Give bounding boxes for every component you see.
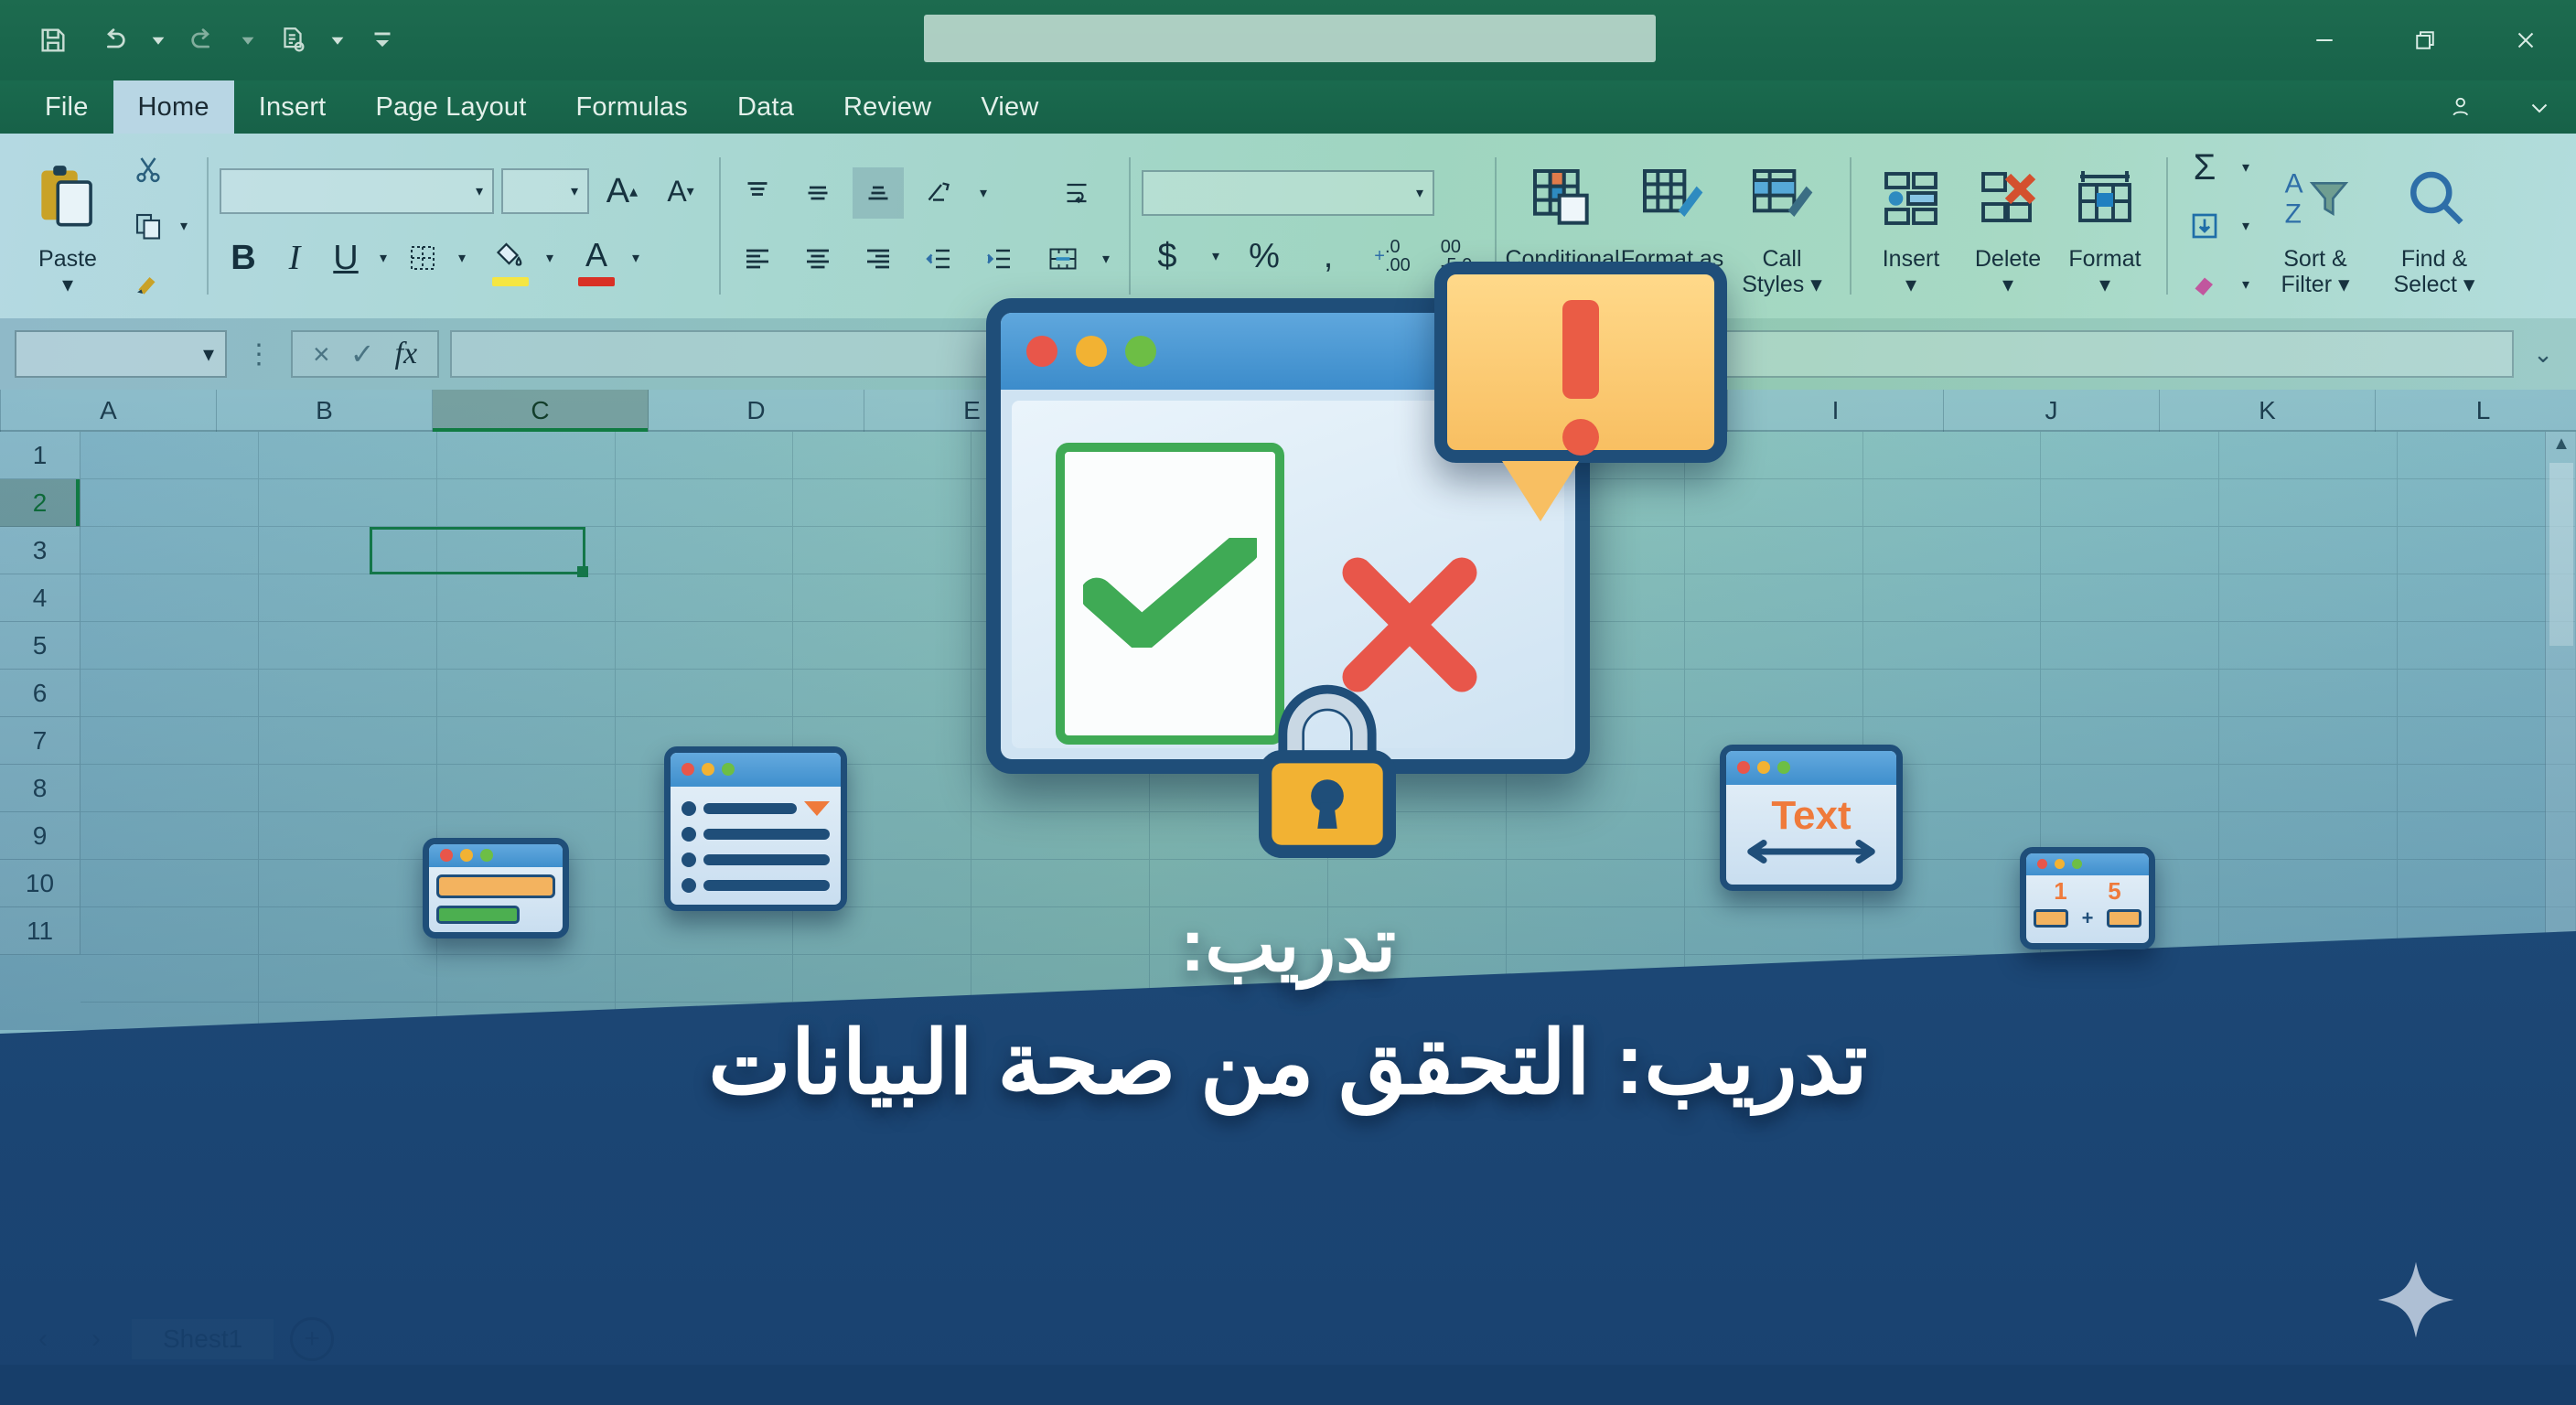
cell-M14[interactable] (2219, 1050, 2398, 1098)
cell-J10[interactable] (1685, 860, 1863, 907)
cell-H9[interactable] (1328, 812, 1507, 860)
cell-A8[interactable] (80, 765, 259, 812)
cell-F18[interactable] (971, 1240, 1150, 1288)
underline-button[interactable]: U (322, 239, 370, 278)
cell-G5[interactable] (1150, 622, 1328, 670)
column-header-C[interactable]: C (433, 390, 649, 432)
cell-D8[interactable] (616, 765, 794, 812)
cell-H5[interactable] (1328, 622, 1507, 670)
cell-B5[interactable] (259, 622, 437, 670)
cell-A18[interactable] (80, 1240, 259, 1288)
cell-L2[interactable] (2041, 479, 2219, 527)
cell-B13[interactable] (259, 1003, 437, 1050)
tab-review[interactable]: Review (819, 80, 956, 134)
cell-E15[interactable] (793, 1098, 971, 1145)
row-header-8[interactable]: 8 (0, 765, 80, 812)
cell-G11[interactable] (1150, 907, 1328, 955)
cell-A9[interactable] (80, 812, 259, 860)
cell-H8[interactable] (1328, 765, 1507, 812)
cell-K1[interactable] (1863, 432, 2042, 479)
cell-A15[interactable] (80, 1098, 259, 1145)
clear-dropdown-icon[interactable]: ▾ (2236, 274, 2256, 295)
cell-K11[interactable] (1863, 907, 2042, 955)
cell-C15[interactable] (437, 1098, 616, 1145)
cell-F14[interactable] (971, 1050, 1150, 1098)
orientation-dropdown-icon[interactable]: ▾ (973, 183, 993, 203)
cell-I10[interactable] (1507, 860, 1685, 907)
cell-D9[interactable] (616, 812, 794, 860)
cell-B8[interactable] (259, 765, 437, 812)
row-header-11[interactable]: 11 (0, 907, 80, 955)
copy-icon[interactable] (123, 200, 174, 252)
print-dropdown-icon[interactable] (327, 30, 348, 50)
cell-B16[interactable] (259, 1145, 437, 1193)
cell-H17[interactable] (1328, 1193, 1507, 1240)
cell-C8[interactable] (437, 765, 616, 812)
cell-K14[interactable] (1863, 1050, 2042, 1098)
cell-E5[interactable] (793, 622, 971, 670)
cell-F2[interactable] (971, 479, 1150, 527)
cell-H11[interactable] (1328, 907, 1507, 955)
cell-H16[interactable] (1328, 1145, 1507, 1193)
ribbon-options-icon[interactable] (2503, 80, 2576, 134)
cell-K8[interactable] (1863, 765, 2042, 812)
cell-F9[interactable] (971, 812, 1150, 860)
cell-B11[interactable] (259, 907, 437, 955)
row-header-10[interactable]: 10 (0, 860, 80, 907)
cell-D16[interactable] (616, 1145, 794, 1193)
cell-B4[interactable] (259, 574, 437, 622)
cell-I8[interactable] (1507, 765, 1685, 812)
cell-B9[interactable] (259, 812, 437, 860)
cell-D15[interactable] (616, 1098, 794, 1145)
tab-home[interactable]: Home (113, 80, 234, 134)
cell-E3[interactable] (793, 527, 971, 574)
scroll-thumb[interactable] (2549, 463, 2573, 646)
cell-A11[interactable] (80, 907, 259, 955)
orientation-icon[interactable] (913, 167, 964, 219)
cell-C2[interactable] (437, 479, 616, 527)
cell-D1[interactable] (616, 432, 794, 479)
cell-A16[interactable] (80, 1145, 259, 1193)
column-header-H[interactable]: H (1512, 390, 1728, 432)
column-header-D[interactable]: D (649, 390, 864, 432)
cell-A5[interactable] (80, 622, 259, 670)
decrease-decimal-icon[interactable]: 00-5.0 (1431, 231, 1482, 282)
cell-L10[interactable] (2041, 860, 2219, 907)
search-box[interactable] (924, 15, 1656, 62)
cell-D5[interactable] (616, 622, 794, 670)
cell-I14[interactable] (1507, 1050, 1685, 1098)
clear-icon[interactable] (2179, 259, 2230, 310)
cell-E13[interactable] (793, 1003, 971, 1050)
percent-icon[interactable]: % (1239, 231, 1290, 282)
cell-M2[interactable] (2219, 479, 2398, 527)
redo-icon[interactable] (177, 15, 229, 66)
font-color-dropdown-icon[interactable]: ▾ (626, 248, 646, 268)
cell-L12[interactable] (2041, 955, 2219, 1003)
column-header-G[interactable]: G (1296, 390, 1512, 432)
tab-formulas[interactable]: Formulas (552, 80, 713, 134)
row-header-2[interactable]: 2 (0, 479, 80, 527)
merge-cells-icon[interactable] (1037, 233, 1089, 284)
cell-F15[interactable] (971, 1098, 1150, 1145)
italic-button[interactable]: I (271, 238, 318, 278)
cell-F6[interactable] (971, 670, 1150, 717)
prev-sheet-icon[interactable]: ‹ (24, 1320, 62, 1358)
cell-C16[interactable] (437, 1145, 616, 1193)
decrease-indent-icon[interactable] (913, 233, 964, 284)
cell-D10[interactable] (616, 860, 794, 907)
cell-E6[interactable] (793, 670, 971, 717)
fill-color-button[interactable] (485, 230, 536, 286)
cell-F4[interactable] (971, 574, 1150, 622)
name-box[interactable]: ▾ (15, 330, 227, 378)
autosum-dropdown-icon[interactable]: ▾ (2236, 157, 2256, 177)
cell-G12[interactable] (1150, 955, 1328, 1003)
cell-F1[interactable] (971, 432, 1150, 479)
cell-C6[interactable] (437, 670, 616, 717)
row-header-6[interactable]: 6 (0, 670, 80, 717)
cell-J7[interactable] (1685, 717, 1863, 765)
column-header-L[interactable]: L (2376, 390, 2576, 432)
top-align-icon[interactable] (732, 167, 783, 219)
cell-H10[interactable] (1328, 860, 1507, 907)
cell-J16[interactable] (1685, 1145, 1863, 1193)
cell-G14[interactable] (1150, 1050, 1328, 1098)
cell-L5[interactable] (2041, 622, 2219, 670)
wrap-text-icon[interactable] (1051, 167, 1102, 219)
account-icon[interactable] (2420, 80, 2503, 134)
cell-J6[interactable] (1685, 670, 1863, 717)
cell-L16[interactable] (2041, 1145, 2219, 1193)
cell-K5[interactable] (1863, 622, 2042, 670)
cell-M13[interactable] (2219, 1003, 2398, 1050)
cell-F8[interactable] (971, 765, 1150, 812)
cell-M9[interactable] (2219, 812, 2398, 860)
undo-icon[interactable] (88, 15, 139, 66)
row-header-1[interactable]: 1 (0, 432, 80, 479)
cell-L14[interactable] (2041, 1050, 2219, 1098)
cell-A12[interactable] (80, 955, 259, 1003)
tab-data[interactable]: Data (713, 80, 819, 134)
cell-D2[interactable] (616, 479, 794, 527)
cell-J13[interactable] (1685, 1003, 1863, 1050)
cell-F5[interactable] (971, 622, 1150, 670)
cell-L13[interactable] (2041, 1003, 2219, 1050)
cell-L1[interactable] (2041, 432, 2219, 479)
format-painter-icon[interactable] (123, 257, 174, 308)
cell-J5[interactable] (1685, 622, 1863, 670)
increase-decimal-icon[interactable]: +.0.00 (1367, 231, 1418, 282)
comma-style-icon[interactable]: , (1303, 231, 1354, 282)
cell-I18[interactable] (1507, 1240, 1685, 1288)
cell-A14[interactable] (80, 1050, 259, 1098)
cell-D7[interactable] (616, 717, 794, 765)
row-header-5[interactable]: 5 (0, 622, 80, 670)
redo-dropdown-icon[interactable] (238, 30, 258, 50)
column-header-F[interactable]: F (1080, 390, 1296, 432)
cell-M8[interactable] (2219, 765, 2398, 812)
cell-B15[interactable] (259, 1098, 437, 1145)
bold-button[interactable]: B (220, 239, 267, 278)
cell-K13[interactable] (1863, 1003, 2042, 1050)
cell-C4[interactable] (437, 574, 616, 622)
cell-K4[interactable] (1863, 574, 2042, 622)
enter-formula-icon[interactable]: ✓ (350, 337, 375, 371)
cell-C7[interactable] (437, 717, 616, 765)
cell-K15[interactable] (1863, 1098, 2042, 1145)
cell-D18[interactable] (616, 1240, 794, 1288)
cell-F7[interactable] (971, 717, 1150, 765)
cell-B17[interactable] (259, 1193, 437, 1240)
cell-B6[interactable] (259, 670, 437, 717)
cell-H3[interactable] (1328, 527, 1507, 574)
borders-dropdown-icon[interactable]: ▾ (452, 248, 472, 268)
quick-print-icon[interactable] (267, 15, 318, 66)
cell-M18[interactable] (2219, 1240, 2398, 1288)
cell-M12[interactable] (2219, 955, 2398, 1003)
cell-B14[interactable] (259, 1050, 437, 1098)
cell-K9[interactable] (1863, 812, 2042, 860)
undo-dropdown-icon[interactable] (148, 30, 168, 50)
cell-M11[interactable] (2219, 907, 2398, 955)
cell-M16[interactable] (2219, 1145, 2398, 1193)
cell-L11[interactable] (2041, 907, 2219, 955)
close-icon[interactable] (2475, 0, 2576, 80)
currency-icon[interactable]: $ (1142, 231, 1193, 282)
cell-M3[interactable] (2219, 527, 2398, 574)
cell-K3[interactable] (1863, 527, 2042, 574)
cell-G13[interactable] (1150, 1003, 1328, 1050)
insert-cells-button[interactable]: Insert ▾ (1862, 155, 1959, 298)
cell-J9[interactable] (1685, 812, 1863, 860)
cell-J14[interactable] (1685, 1050, 1863, 1098)
cell-J2[interactable] (1685, 479, 1863, 527)
row-header-9[interactable]: 9 (0, 812, 80, 860)
increase-indent-icon[interactable] (973, 233, 1025, 284)
cell-M6[interactable] (2219, 670, 2398, 717)
cell-H1[interactable] (1328, 432, 1507, 479)
column-header-A[interactable]: A (1, 390, 217, 432)
delete-cells-dropdown-icon[interactable]: ▾ (2002, 272, 2013, 298)
cell-F10[interactable] (971, 860, 1150, 907)
cell-I17[interactable] (1507, 1193, 1685, 1240)
cell-H6[interactable] (1328, 670, 1507, 717)
paste-button[interactable]: Paste ▾ (13, 155, 123, 298)
cell-A17[interactable] (80, 1193, 259, 1240)
minimize-icon[interactable] (2274, 0, 2375, 80)
next-sheet-icon[interactable]: › (77, 1320, 115, 1358)
cell-M1[interactable] (2219, 432, 2398, 479)
cell-M15[interactable] (2219, 1098, 2398, 1145)
cut-icon[interactable] (123, 144, 174, 195)
cell-G4[interactable] (1150, 574, 1328, 622)
underline-dropdown-icon[interactable]: ▾ (373, 248, 393, 268)
find-select-button[interactable]: Find & Select ▾ (2375, 155, 2494, 297)
cell-D3[interactable] (616, 527, 794, 574)
cell-I7[interactable] (1507, 717, 1685, 765)
cell-M10[interactable] (2219, 860, 2398, 907)
cell-A6[interactable] (80, 670, 259, 717)
cell-J18[interactable] (1685, 1240, 1863, 1288)
paste-dropdown-icon[interactable]: ▾ (62, 272, 73, 298)
cell-I13[interactable] (1507, 1003, 1685, 1050)
cell-J3[interactable] (1685, 527, 1863, 574)
column-header-K[interactable]: K (2160, 390, 2376, 432)
cell-L17[interactable] (2041, 1193, 2219, 1240)
cell-B7[interactable] (259, 717, 437, 765)
cell-G7[interactable] (1150, 717, 1328, 765)
formula-input[interactable] (450, 330, 2514, 378)
cell-G3[interactable] (1150, 527, 1328, 574)
cell-G9[interactable] (1150, 812, 1328, 860)
cell-I15[interactable] (1507, 1098, 1685, 1145)
cell-E16[interactable] (793, 1145, 971, 1193)
tab-insert[interactable]: Insert (234, 80, 351, 134)
cell-J11[interactable] (1685, 907, 1863, 955)
cell-G10[interactable] (1150, 860, 1328, 907)
cell-I2[interactable] (1507, 479, 1685, 527)
cell-E8[interactable] (793, 765, 971, 812)
cell-E10[interactable] (793, 860, 971, 907)
cancel-formula-icon[interactable]: × (313, 338, 330, 371)
cell-F12[interactable] (971, 955, 1150, 1003)
font-color-button[interactable]: A (571, 230, 622, 286)
cell-M4[interactable] (2219, 574, 2398, 622)
tab-page-layout[interactable]: Page Layout (350, 80, 551, 134)
cell-K6[interactable] (1863, 670, 2042, 717)
cell-B18[interactable] (259, 1240, 437, 1288)
cell-I4[interactable] (1507, 574, 1685, 622)
cell-E2[interactable] (793, 479, 971, 527)
cell-A2[interactable] (80, 479, 259, 527)
cell-F3[interactable] (971, 527, 1150, 574)
cell-A4[interactable] (80, 574, 259, 622)
sheet-tab-sheet1[interactable]: Shest1 (130, 1317, 275, 1361)
cell-L3[interactable] (2041, 527, 2219, 574)
cell-D11[interactable] (616, 907, 794, 955)
cell-I5[interactable] (1507, 622, 1685, 670)
cell-J1[interactable] (1685, 432, 1863, 479)
cell-K2[interactable] (1863, 479, 2042, 527)
tab-file[interactable]: File (20, 80, 113, 134)
font-name-input[interactable]: ▾ (220, 168, 494, 214)
select-all-corner[interactable] (0, 390, 1, 432)
cell-I1[interactable] (1507, 432, 1685, 479)
cell-G18[interactable] (1150, 1240, 1328, 1288)
row-header-7[interactable]: 7 (0, 717, 80, 765)
cell-I6[interactable] (1507, 670, 1685, 717)
cell-I12[interactable] (1507, 955, 1685, 1003)
cell-E14[interactable] (793, 1050, 971, 1098)
cell-C14[interactable] (437, 1050, 616, 1098)
cell-C9[interactable] (437, 812, 616, 860)
cell-L4[interactable] (2041, 574, 2219, 622)
cell-I9[interactable] (1507, 812, 1685, 860)
cell-D17[interactable] (616, 1193, 794, 1240)
cell-A3[interactable] (80, 527, 259, 574)
cell-J12[interactable] (1685, 955, 1863, 1003)
borders-icon[interactable] (397, 232, 448, 284)
customize-toolbar-icon[interactable] (357, 15, 408, 66)
cell-C12[interactable] (437, 955, 616, 1003)
column-header-B[interactable]: B (217, 390, 433, 432)
merge-dropdown-icon[interactable]: ▾ (1096, 249, 1116, 269)
cell-I11[interactable] (1507, 907, 1685, 955)
tab-view[interactable]: View (956, 80, 1063, 134)
cell-K18[interactable] (1863, 1240, 2042, 1288)
cell-D12[interactable] (616, 955, 794, 1003)
align-center-icon[interactable] (792, 233, 843, 284)
cell-F13[interactable] (971, 1003, 1150, 1050)
format-cells-dropdown-icon[interactable]: ▾ (2099, 272, 2110, 298)
cell-F16[interactable] (971, 1145, 1150, 1193)
cell-E11[interactable] (793, 907, 971, 955)
middle-align-icon[interactable] (792, 167, 843, 219)
row-header-3[interactable]: 3 (0, 527, 80, 574)
cell-J17[interactable] (1685, 1193, 1863, 1240)
cell-C10[interactable] (437, 860, 616, 907)
cell-A10[interactable] (80, 860, 259, 907)
cell-H18[interactable] (1328, 1240, 1507, 1288)
grow-font-icon[interactable]: A▴ (596, 166, 648, 217)
sort-filter-button[interactable]: AZ Sort & Filter ▾ (2256, 155, 2375, 297)
cell-G6[interactable] (1150, 670, 1328, 717)
currency-dropdown-icon[interactable]: ▾ (1206, 246, 1226, 266)
save-icon[interactable] (27, 15, 79, 66)
insert-cells-dropdown-icon[interactable]: ▾ (1905, 272, 1916, 298)
cell-E9[interactable] (793, 812, 971, 860)
cell-E7[interactable] (793, 717, 971, 765)
cell-G2[interactable] (1150, 479, 1328, 527)
cell-L18[interactable] (2041, 1240, 2219, 1288)
cell-E12[interactable] (793, 955, 971, 1003)
cell-B1[interactable] (259, 432, 437, 479)
column-header-E[interactable]: E (864, 390, 1080, 432)
cell-D13[interactable] (616, 1003, 794, 1050)
align-right-icon[interactable] (853, 233, 904, 284)
cell-I16[interactable] (1507, 1145, 1685, 1193)
cell-F17[interactable] (971, 1193, 1150, 1240)
cell-K10[interactable] (1863, 860, 2042, 907)
cell-K17[interactable] (1863, 1193, 2042, 1240)
cell-G17[interactable] (1150, 1193, 1328, 1240)
add-sheet-icon[interactable]: + (290, 1317, 334, 1361)
cell-B2[interactable] (259, 479, 437, 527)
cell-C18[interactable] (437, 1240, 616, 1288)
cell-L8[interactable] (2041, 765, 2219, 812)
cell-G1[interactable] (1150, 432, 1328, 479)
cell-E17[interactable] (793, 1193, 971, 1240)
delete-cells-button[interactable]: Delete ▾ (1959, 155, 2056, 298)
cell-G16[interactable] (1150, 1145, 1328, 1193)
cell-I3[interactable] (1507, 527, 1685, 574)
column-header-I[interactable]: I (1728, 390, 1944, 432)
format-as-table-button[interactable]: Format as Table ▾ (1617, 155, 1727, 297)
cell-H15[interactable] (1328, 1098, 1507, 1145)
expand-formula-bar-icon[interactable]: ⌄ (2525, 340, 2561, 369)
cell-K7[interactable] (1863, 717, 2042, 765)
cell-L7[interactable] (2041, 717, 2219, 765)
cell-L6[interactable] (2041, 670, 2219, 717)
cell-J15[interactable] (1685, 1098, 1863, 1145)
cell-H12[interactable] (1328, 955, 1507, 1003)
cell-A1[interactable] (80, 432, 259, 479)
cell-M17[interactable] (2219, 1193, 2398, 1240)
cell-C13[interactable] (437, 1003, 616, 1050)
fill-icon[interactable] (2179, 200, 2230, 252)
